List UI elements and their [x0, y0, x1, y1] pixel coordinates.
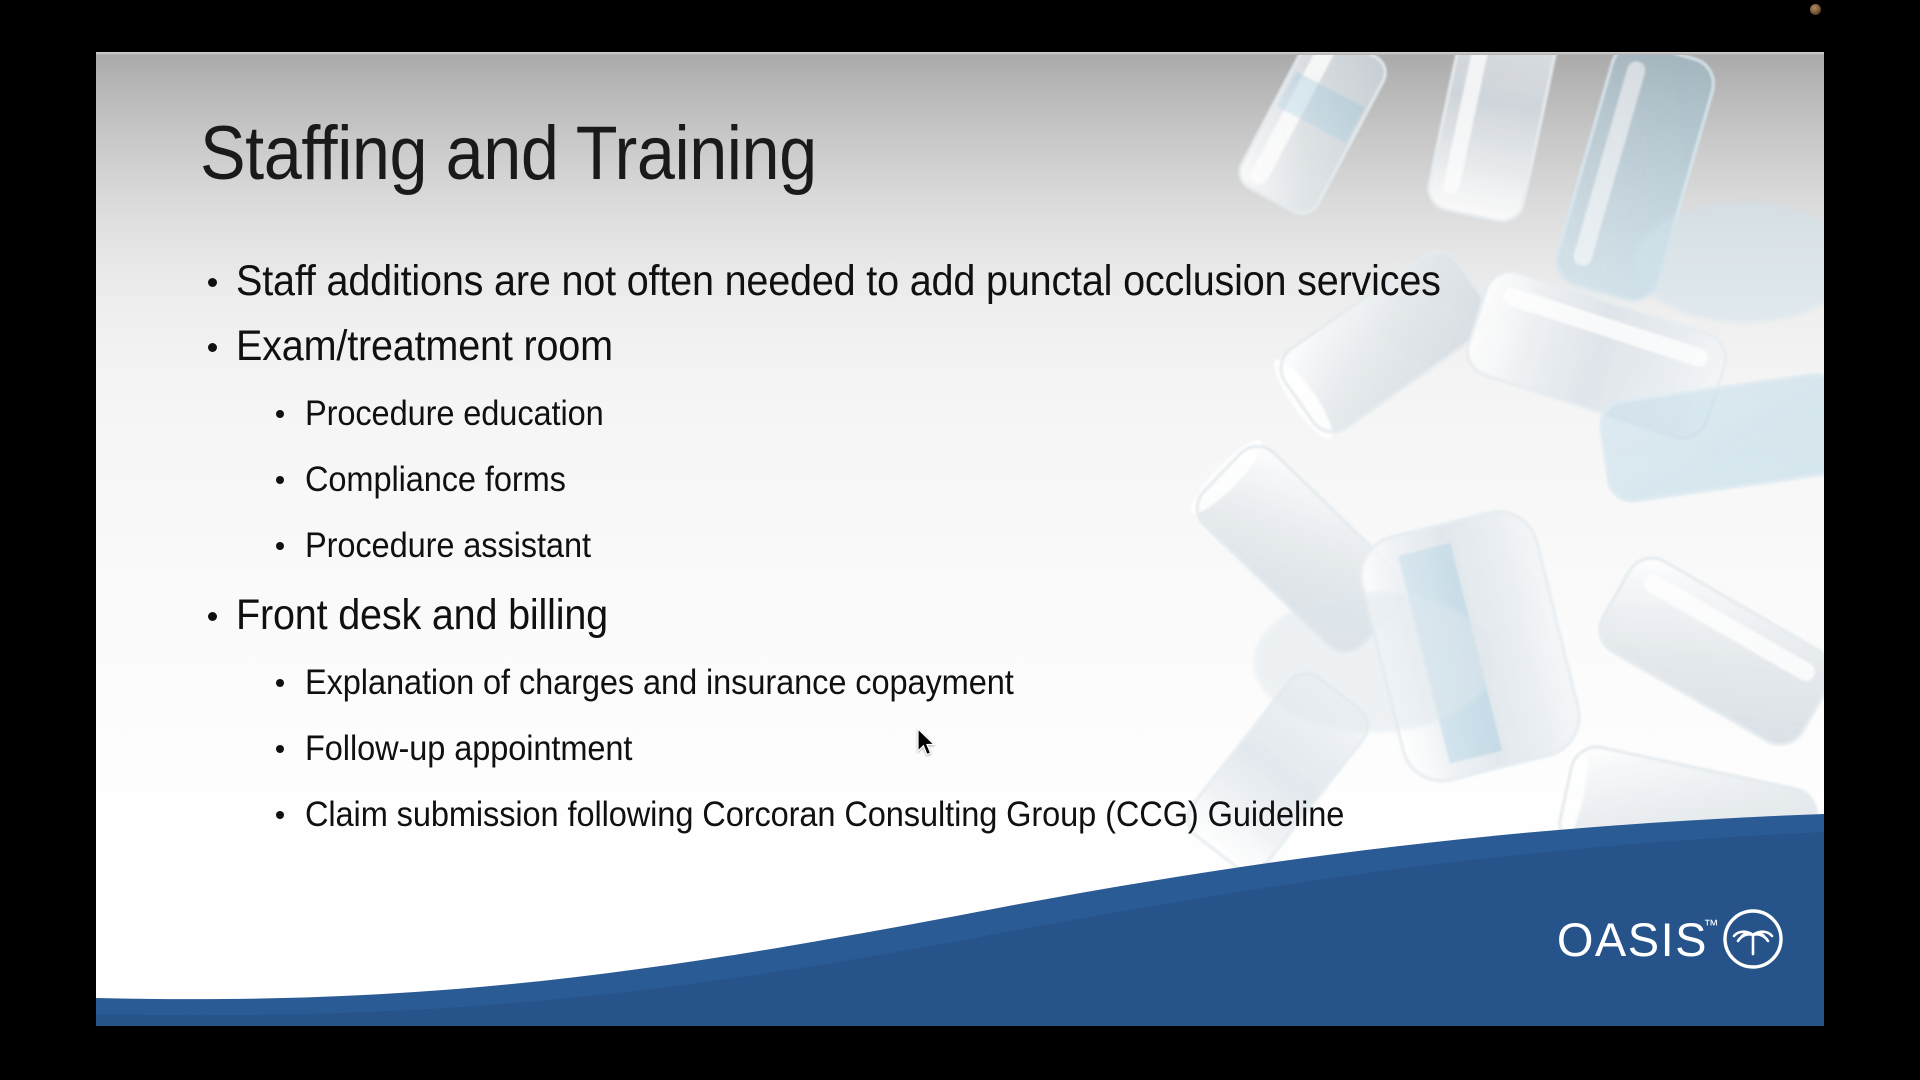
- bullet-text: Compliance forms: [305, 462, 566, 497]
- bullet-text: Procedure assistant: [305, 528, 591, 563]
- bullet-marker-icon: [208, 343, 217, 352]
- bullet-marker-icon: [276, 410, 284, 418]
- bullet-marker-icon: [208, 612, 217, 621]
- bullet-marker-icon: [276, 476, 284, 484]
- logo-wordmark: OASIS ™: [1557, 916, 1708, 963]
- bullet-text: Exam/treatment room: [236, 325, 613, 368]
- bullet-text: Procedure education: [305, 396, 604, 431]
- trademark-symbol: ™: [1704, 918, 1721, 933]
- recording-indicator-dot: [1810, 4, 1821, 15]
- bullet-text: Claim submission following Corcoran Cons…: [305, 797, 1344, 832]
- bullet-marker-icon: [276, 542, 284, 550]
- page-title: Staffing and Training: [200, 114, 817, 194]
- bullet-marker-icon: [208, 278, 217, 287]
- bullet-item-level2: Follow-up appointment: [200, 731, 1760, 766]
- bullet-item-level1: Front desk and billing: [200, 594, 1760, 637]
- bullet-item-level1: Exam/treatment room: [200, 325, 1760, 368]
- oasis-logo: OASIS ™: [1557, 908, 1784, 970]
- bullet-text: Staff additions are not often needed to …: [236, 260, 1441, 303]
- bullet-item-level2: Compliance forms: [200, 462, 1760, 497]
- bullet-item-level1: Staff additions are not often needed to …: [200, 260, 1760, 303]
- slide-content: Staffing and Training Staff additions ar…: [96, 52, 1824, 1026]
- bullet-item-level2: Procedure assistant: [200, 528, 1760, 563]
- palm-tree-circle-icon: [1722, 908, 1784, 970]
- presentation-slide[interactable]: OASIS ™ Staffing and Training: [96, 52, 1824, 1026]
- logo-wordmark-text: OASIS: [1557, 913, 1708, 966]
- bullet-item-level2: Explanation of charges and insurance cop…: [200, 665, 1760, 700]
- bullet-item-level2: Procedure education: [200, 396, 1760, 431]
- bullet-item-level2: Claim submission following Corcoran Cons…: [200, 797, 1760, 832]
- bullet-marker-icon: [276, 811, 284, 819]
- bullet-marker-icon: [276, 679, 284, 687]
- bullet-text: Explanation of charges and insurance cop…: [305, 665, 1014, 700]
- bullet-text: Follow-up appointment: [305, 731, 632, 766]
- bullet-marker-icon: [276, 745, 284, 753]
- screen-root: OASIS ™ Staffing and Training: [0, 0, 1920, 1080]
- bullet-text: Front desk and billing: [236, 594, 608, 637]
- bullet-list: Staff additions are not often needed to …: [200, 260, 1760, 863]
